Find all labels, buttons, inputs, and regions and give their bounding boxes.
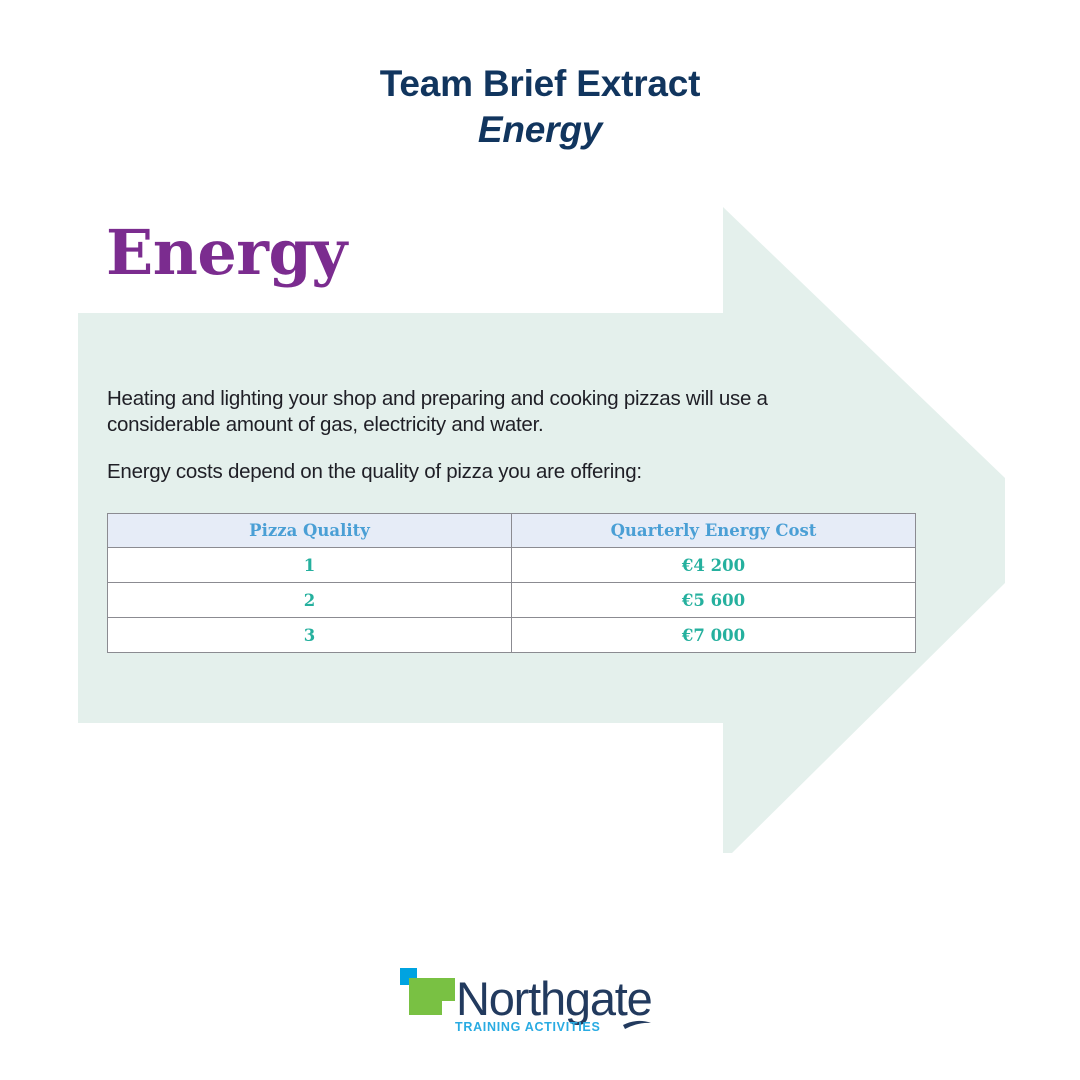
- page-title-line2: Energy: [0, 108, 1080, 152]
- cell-quarterly-energy-cost: €4 200: [512, 548, 916, 583]
- column-header-pizza-quality: Pizza Quality: [108, 514, 512, 548]
- logo-green-block-icon: [409, 978, 455, 1015]
- page-title: Team Brief Extract Energy: [0, 62, 1080, 151]
- table-header-row: Pizza Quality Quarterly Energy Cost: [108, 514, 916, 548]
- body-copy: Heating and lighting your shop and prepa…: [107, 386, 847, 485]
- cell-pizza-quality: 3: [108, 618, 512, 653]
- cell-pizza-quality: 1: [108, 548, 512, 583]
- northgate-logo-svg: Northgate TRAINING ACTIVITIES: [398, 965, 688, 1045]
- table-row: 2 €5 600: [108, 583, 916, 618]
- section-heading: Energy: [106, 222, 347, 284]
- column-header-quarterly-energy-cost: Quarterly Energy Cost: [512, 514, 916, 548]
- cell-quarterly-energy-cost: €5 600: [512, 583, 916, 618]
- cell-quarterly-energy-cost: €7 000: [512, 618, 916, 653]
- table-head: Pizza Quality Quarterly Energy Cost: [108, 514, 916, 548]
- page-title-line1: Team Brief Extract: [0, 62, 1080, 106]
- table-row: 3 €7 000: [108, 618, 916, 653]
- energy-cost-table: Pizza Quality Quarterly Energy Cost 1 €4…: [107, 513, 916, 653]
- body-paragraph-2: Energy costs depend on the quality of pi…: [107, 459, 847, 485]
- table-body: 1 €4 200 2 €5 600 3 €7 000: [108, 548, 916, 653]
- northgate-logo: Northgate TRAINING ACTIVITIES: [398, 965, 688, 1045]
- body-paragraph-1: Heating and lighting your shop and prepa…: [107, 386, 847, 438]
- cell-pizza-quality: 2: [108, 583, 512, 618]
- table-row: 1 €4 200: [108, 548, 916, 583]
- logo-tagline: TRAINING ACTIVITIES: [455, 1020, 600, 1034]
- logo-wordmark: Northgate: [456, 972, 652, 1025]
